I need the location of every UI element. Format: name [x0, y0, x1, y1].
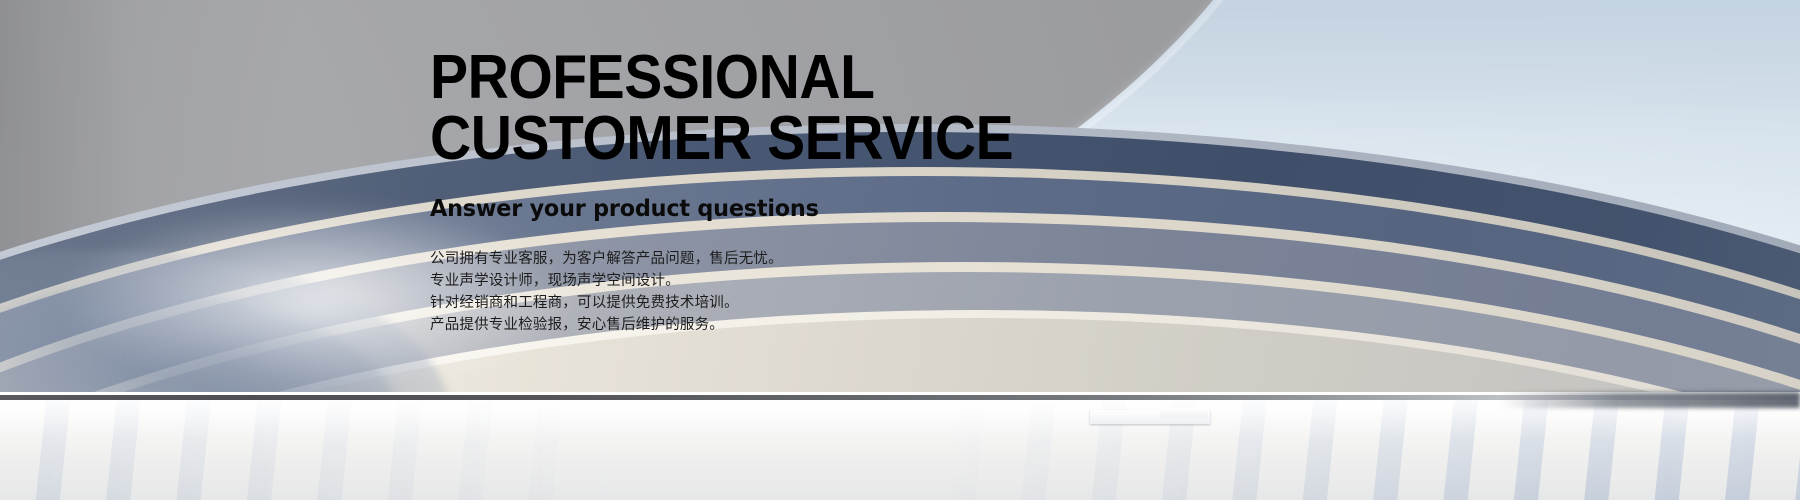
- banner-body-copy: 公司拥有专业客服，为客户解答产品问题，售后无忧。 专业声学设计师，现场声学空间设…: [430, 248, 1190, 336]
- headline-line-1: PROFESSIONAL: [430, 48, 1129, 109]
- service-banner: PROFESSIONAL CUSTOMER SERVICE Answer you…: [0, 0, 1800, 500]
- banner-headline: PROFESSIONAL CUSTOMER SERVICE: [430, 48, 1129, 170]
- body-line-2: 专业声学设计师，现场声学空间设计。: [430, 270, 1190, 292]
- headline-line-2: CUSTOMER SERVICE: [430, 109, 1129, 170]
- banner-subheadline: Answer your product questions: [430, 196, 1167, 222]
- floor-right-shadow: [1500, 392, 1800, 408]
- floor-sheen: [0, 400, 1800, 500]
- body-line-3: 针对经销商和工程商，可以提供免费技术培训。: [430, 292, 1190, 314]
- body-line-4: 产品提供专业检验报，安心售后维护的服务。: [430, 314, 1190, 336]
- banner-text-content: PROFESSIONAL CUSTOMER SERVICE Answer you…: [430, 48, 1190, 336]
- body-line-1: 公司拥有专业客服，为客户解答产品问题，售后无忧。: [430, 248, 1190, 270]
- floor-step-block-small: [1160, 408, 1208, 418]
